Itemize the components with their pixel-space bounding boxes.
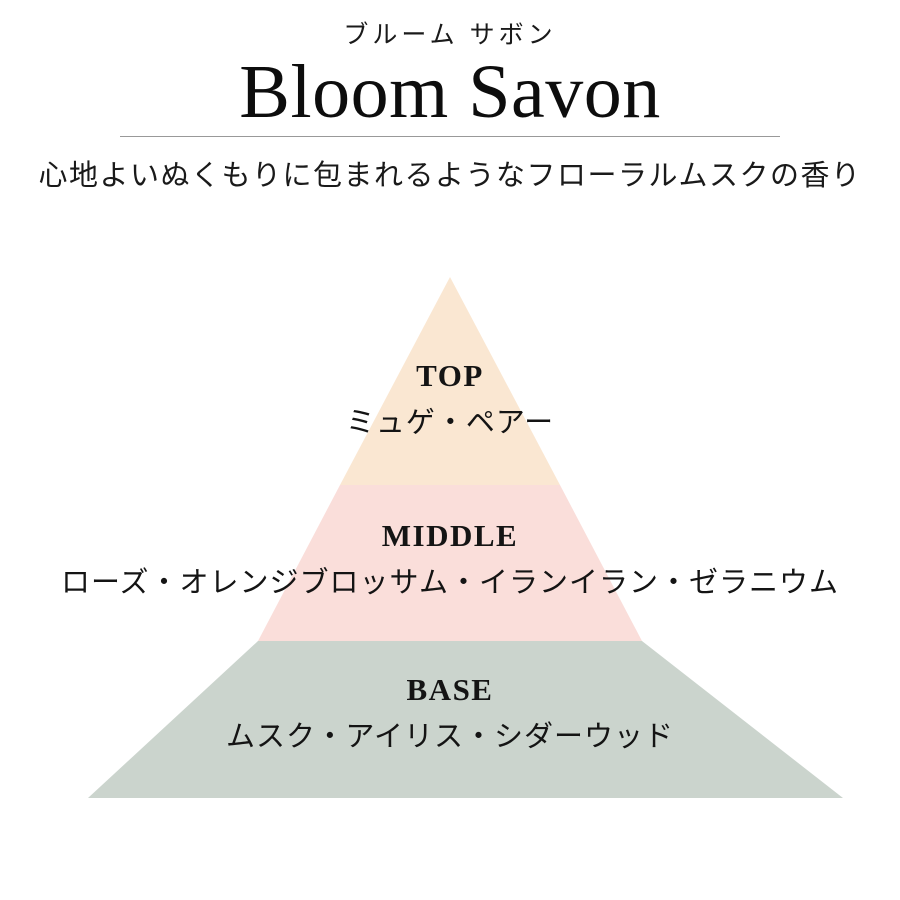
pyramid-layer-base-shape	[88, 641, 843, 798]
pyramid-svg	[0, 0, 900, 900]
pyramid-layer-top-shape	[340, 277, 560, 485]
pyramid-layer-middle-shape	[258, 485, 642, 641]
fragrance-pyramid-diagram	[0, 0, 900, 900]
fragrance-pyramid-page: ブルーム サボン Bloom Savon 心地よいぬくもりに包まれるようなフロー…	[0, 0, 900, 900]
